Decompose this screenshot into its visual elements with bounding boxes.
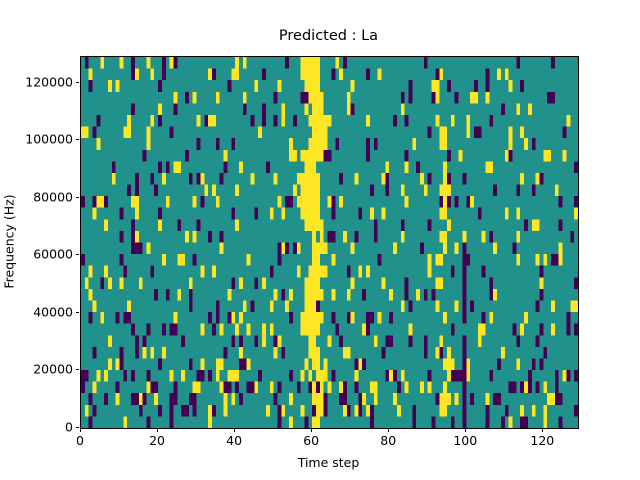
y-tick-mark bbox=[76, 82, 80, 83]
x-tick-mark bbox=[542, 428, 543, 432]
y-tick-label: 20000 bbox=[33, 362, 73, 377]
y-tick-mark bbox=[76, 312, 80, 313]
y-tick-label: 80000 bbox=[33, 189, 73, 204]
matplotlib-figure: Predicted : La Frequency (Hz) 0204060801… bbox=[0, 0, 640, 480]
x-tick-label: 100 bbox=[453, 433, 477, 448]
y-tick-label: 100000 bbox=[25, 132, 73, 147]
x-tick-label: 0 bbox=[76, 433, 84, 448]
x-tick-mark bbox=[388, 428, 389, 432]
x-tick-label: 80 bbox=[380, 433, 396, 448]
x-tick-label: 120 bbox=[530, 433, 554, 448]
x-tick-label: 20 bbox=[149, 433, 165, 448]
x-tick-mark bbox=[234, 428, 235, 432]
x-tick-label: 40 bbox=[226, 433, 242, 448]
x-axis-label: Time step bbox=[80, 455, 577, 470]
y-axis-label-text: Frequency (Hz) bbox=[2, 194, 17, 288]
y-tick-label: 0 bbox=[65, 420, 73, 435]
y-tick-mark bbox=[76, 427, 80, 428]
heatmap-plot-area bbox=[80, 56, 579, 429]
y-tick-label: 40000 bbox=[33, 304, 73, 319]
y-axis-label: Frequency (Hz) bbox=[0, 56, 18, 427]
y-tick-mark bbox=[76, 139, 80, 140]
page-title: Predicted : La bbox=[80, 27, 577, 45]
x-tick-mark bbox=[311, 428, 312, 432]
y-tick-mark bbox=[76, 197, 80, 198]
x-tick-mark bbox=[465, 428, 466, 432]
x-tick-label: 60 bbox=[303, 433, 319, 448]
y-tick-label: 60000 bbox=[33, 247, 73, 262]
y-tick-label: 120000 bbox=[25, 74, 73, 89]
heatmap-canvas bbox=[81, 57, 578, 428]
y-tick-mark bbox=[76, 254, 80, 255]
x-tick-mark bbox=[80, 428, 81, 432]
y-tick-mark bbox=[76, 369, 80, 370]
x-tick-mark bbox=[157, 428, 158, 432]
